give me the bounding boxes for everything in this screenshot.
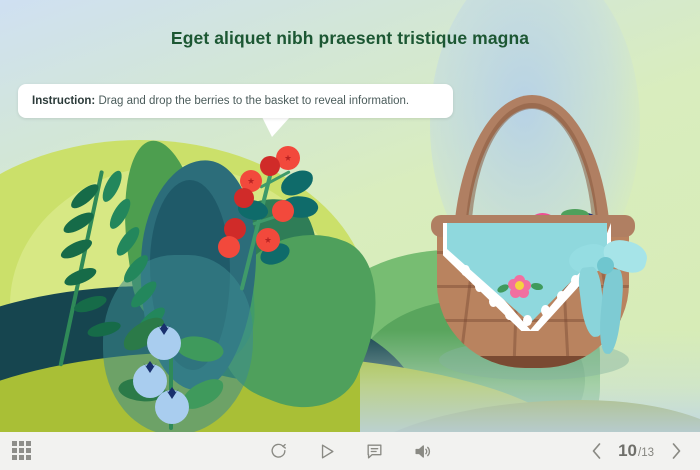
page-title: Eget aliquet nibh praesent tristique mag… — [0, 28, 700, 49]
fern-leaflet — [72, 293, 108, 316]
red-berry[interactable] — [256, 228, 280, 252]
fern-leaflet — [106, 196, 134, 232]
instruction-body: Drag and drop the berries to the basket … — [98, 95, 409, 107]
red-berry-branch[interactable] — [210, 140, 340, 305]
berry-basket-illustration[interactable] — [425, 95, 640, 390]
replay-button[interactable] — [267, 440, 289, 462]
red-berry[interactable] — [218, 236, 240, 258]
lace-dot — [523, 315, 532, 326]
total-pages: /13 — [638, 448, 654, 460]
lace-dot — [475, 281, 484, 292]
fern-leaflet — [127, 278, 160, 311]
transcript-icon — [365, 442, 384, 461]
play-button[interactable] — [315, 440, 337, 462]
berry-star — [248, 178, 255, 185]
cloth-flower — [509, 275, 531, 297]
lace-dot — [489, 296, 498, 307]
instruction-text-wrap: Instruction: Drag and drop the berries t… — [18, 95, 409, 107]
red-berry[interactable] — [260, 156, 280, 176]
red-berry[interactable] — [234, 188, 254, 208]
berry-star — [285, 155, 292, 162]
berry-crown — [165, 387, 179, 399]
replay-icon — [269, 442, 288, 461]
volume-icon — [413, 442, 432, 461]
ribbon-tail — [597, 268, 624, 354]
instruction-bubble-tail — [262, 117, 290, 137]
lace-dot — [505, 309, 514, 320]
chevron-right-icon — [670, 442, 683, 460]
prev-page-button[interactable] — [588, 441, 604, 461]
next-page-button[interactable] — [668, 441, 684, 461]
blueberry[interactable] — [155, 390, 189, 424]
lace-dot — [557, 291, 566, 302]
blueberry-branch[interactable] — [115, 320, 245, 432]
fern-leaflet — [58, 236, 94, 263]
instruction-callout: Instruction: Drag and drop the berries t… — [18, 84, 453, 118]
current-page: 10 — [618, 442, 637, 459]
fern-leaflet — [113, 224, 144, 259]
berry-plant-illustration[interactable] — [55, 135, 355, 432]
red-berry[interactable] — [272, 200, 294, 222]
instruction-label: Instruction: — [32, 95, 95, 107]
basket-ribbon — [575, 235, 645, 370]
chevron-left-icon — [590, 442, 603, 460]
slide-stage: Eget aliquet nibh praesent tristique mag… — [0, 0, 700, 432]
blueberry[interactable] — [147, 326, 181, 360]
course-player: Eget aliquet nibh praesent tristique mag… — [0, 0, 700, 470]
berry-crown — [143, 361, 157, 373]
player-toolbar: 10 /13 — [0, 432, 700, 470]
lace-dot — [541, 305, 550, 316]
branch-leaf — [174, 328, 227, 370]
berry-star — [265, 237, 272, 244]
transcript-button[interactable] — [363, 440, 385, 462]
play-icon — [317, 442, 336, 461]
lace-dot — [461, 265, 470, 276]
ribbon-knot — [597, 257, 614, 274]
volume-button[interactable] — [411, 440, 433, 462]
fern-leaflet — [120, 252, 152, 286]
page-indicator: 10 /13 — [618, 442, 654, 460]
pagination-controls: 10 /13 — [588, 432, 684, 470]
